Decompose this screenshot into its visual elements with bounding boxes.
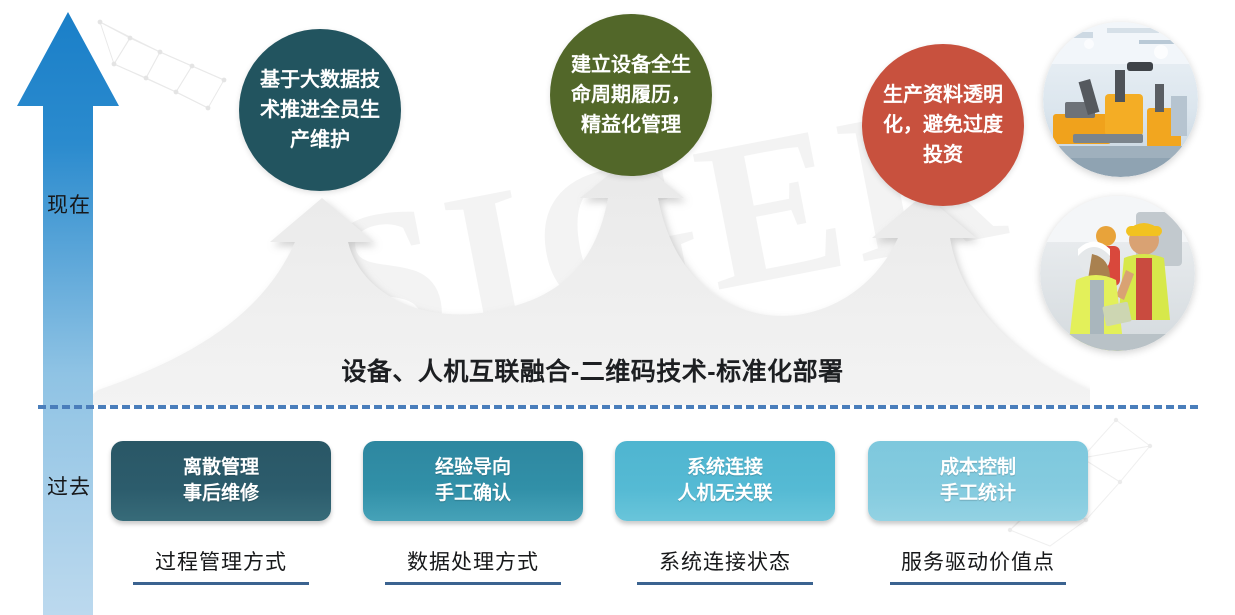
timeline-divider bbox=[38, 405, 1198, 409]
concept-bubble-lifecycle-label: 建立设备全生命周期履历，精益化管理 bbox=[550, 50, 712, 140]
caption-rule bbox=[637, 582, 813, 585]
concept-bubble-big-data[interactable]: 基于大数据技术推进全员生产维护 bbox=[239, 29, 401, 191]
legacy-state-box-cost-line1: 成本控制 bbox=[940, 457, 1016, 478]
legacy-state-box-cost-line2: 手工统计 bbox=[940, 483, 1016, 504]
factory-robotics-photo bbox=[1043, 22, 1198, 177]
axis-label-now: 现在 bbox=[46, 192, 92, 218]
legacy-state-box-data-line1: 经验导向 bbox=[435, 457, 511, 478]
legacy-state-box-system-line1: 系统连接 bbox=[687, 457, 763, 478]
legacy-state-box-process[interactable]: 离散管理 事后维修 bbox=[111, 441, 331, 521]
legacy-state-box-process-line2: 事后维修 bbox=[183, 483, 259, 504]
category-caption-system-label: 系统连接状态 bbox=[659, 551, 791, 574]
category-caption-data-label: 数据处理方式 bbox=[407, 551, 539, 574]
axis-label-past: 过去 bbox=[46, 474, 92, 500]
legacy-state-box-data[interactable]: 经验导向 手工确认 bbox=[363, 441, 583, 521]
infographic-canvas: SIGER 现在 过去 基于大数据技术推进全员生产维护 bbox=[0, 0, 1235, 615]
legacy-state-box-system[interactable]: 系统连接 人机无关联 bbox=[615, 441, 835, 521]
category-caption-system: 系统连接状态 bbox=[615, 546, 835, 585]
concept-bubble-transparency-label: 生产资料透明化，避免过度投资 bbox=[862, 80, 1024, 170]
category-caption-value: 服务驱动价值点 bbox=[868, 546, 1088, 585]
legacy-state-box-data-line2: 手工确认 bbox=[435, 483, 511, 504]
concept-bubble-lifecycle[interactable]: 建立设备全生命周期履历，精益化管理 bbox=[550, 14, 712, 176]
caption-rule bbox=[385, 582, 561, 585]
category-caption-process-label: 过程管理方式 bbox=[155, 551, 287, 574]
category-caption-value-label: 服务驱动价值点 bbox=[901, 551, 1055, 574]
workers-safety-photo bbox=[1040, 196, 1195, 351]
caption-rule bbox=[133, 582, 309, 585]
legacy-state-box-cost[interactable]: 成本控制 手工统计 bbox=[868, 441, 1088, 521]
headline-text: 设备、人机互联融合-二维码技术-标准化部署 bbox=[0, 352, 1185, 388]
category-caption-data: 数据处理方式 bbox=[363, 546, 583, 585]
concept-bubble-big-data-label: 基于大数据技术推进全员生产维护 bbox=[239, 65, 401, 155]
concept-bubble-transparency[interactable]: 生产资料透明化，避免过度投资 bbox=[862, 44, 1024, 206]
legacy-state-box-system-line2: 人机无关联 bbox=[677, 483, 772, 504]
caption-rule bbox=[890, 582, 1066, 585]
legacy-state-box-process-line1: 离散管理 bbox=[183, 457, 259, 478]
time-axis-arrow bbox=[13, 8, 123, 615]
category-caption-process: 过程管理方式 bbox=[111, 546, 331, 585]
